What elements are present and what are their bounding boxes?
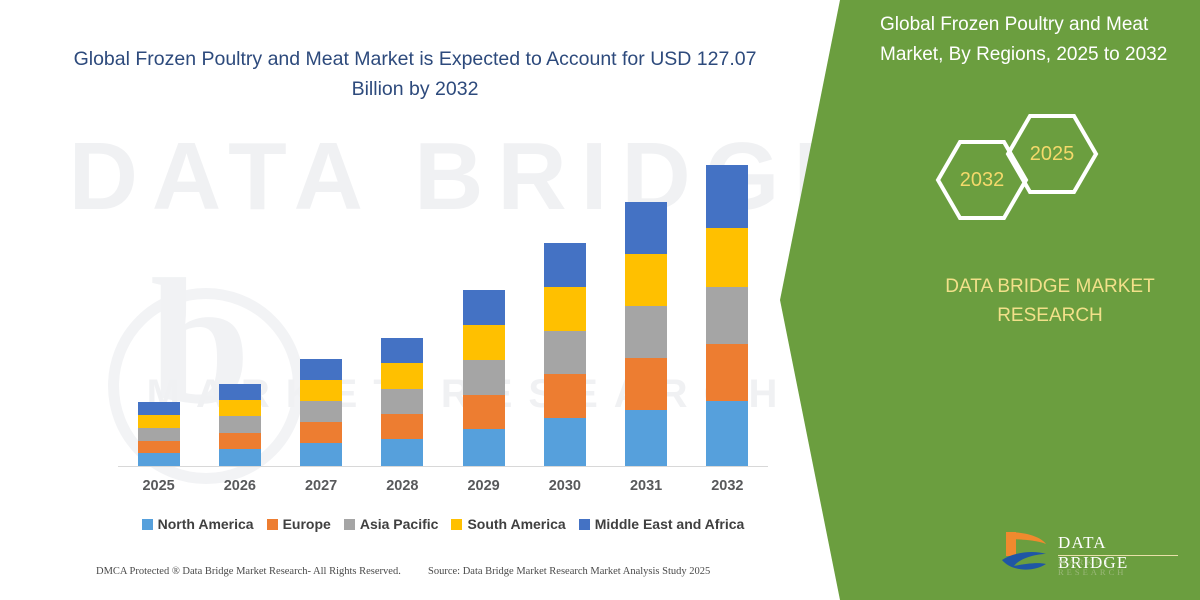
bar-segment (381, 439, 423, 466)
bar-segment (544, 287, 586, 331)
bar-segment (300, 422, 342, 443)
legend-label: Middle East and Africa (595, 516, 745, 532)
bar-column-2025 (118, 140, 199, 466)
bar-segment (463, 395, 505, 429)
bar-segment (706, 228, 748, 287)
bar-segment (300, 401, 342, 422)
stacked-bar (463, 290, 505, 466)
bar-segment (219, 433, 261, 449)
legend-swatch-icon (579, 519, 590, 530)
bar-segment (544, 418, 586, 466)
bar-column-2026 (199, 140, 280, 466)
chart-legend: North AmericaEuropeAsia PacificSouth Ame… (118, 512, 768, 536)
x-tick-2028: 2028 (362, 474, 443, 498)
bar-column-2027 (281, 140, 362, 466)
legend-swatch-icon (267, 519, 278, 530)
bar-segment (138, 415, 180, 428)
stacked-bar (625, 202, 667, 466)
bar-segment (625, 410, 667, 466)
bar-segment (706, 287, 748, 344)
bar-segment (219, 449, 261, 466)
bar-segment (463, 325, 505, 360)
legend-item[interactable]: South America (451, 516, 565, 532)
stacked-bar (381, 338, 423, 466)
bar-column-2030 (524, 140, 605, 466)
panel-title: Global Frozen Poultry and Meat Market, B… (880, 10, 1190, 70)
bridge-b-icon (1000, 530, 1052, 574)
bar-segment (381, 363, 423, 389)
legend-label: South America (467, 516, 565, 532)
bar-column-2032 (687, 140, 768, 466)
bar-segment (381, 389, 423, 414)
legend-label: Europe (283, 516, 331, 532)
brand-name-text: DATA BRIDGE MARKET RESEARCH (900, 272, 1200, 330)
bar-segment (706, 344, 748, 401)
x-tick-2029: 2029 (443, 474, 524, 498)
bar-segment (381, 414, 423, 439)
legend-swatch-icon (142, 519, 153, 530)
bar-column-2031 (606, 140, 687, 466)
hexagon-label-2025: 2025 (1004, 112, 1100, 196)
x-tick-2025: 2025 (118, 474, 199, 498)
legend-item[interactable]: Middle East and Africa (579, 516, 745, 532)
legend-item[interactable]: North America (142, 516, 254, 532)
x-tick-2032: 2032 (687, 474, 768, 498)
legend-item[interactable]: Asia Pacific (344, 516, 439, 532)
bar-column-2028 (362, 140, 443, 466)
bar-segment (381, 338, 423, 363)
logo-tagline: MARKET RESEARCH (1058, 557, 1180, 577)
footer-dmca-notice: DMCA Protected ® Data Bridge Market Rese… (96, 566, 401, 577)
stacked-bar (219, 384, 261, 466)
bar-segment (625, 358, 667, 410)
bar-segment (300, 443, 342, 466)
stacked-bar (138, 402, 180, 466)
stacked-bar (300, 359, 342, 466)
legend-label: North America (158, 516, 254, 532)
bar-segment (138, 441, 180, 453)
bar-segment (544, 243, 586, 287)
logo-mark-icon (1000, 530, 1052, 574)
bar-segment (463, 429, 505, 466)
bar-segment (138, 402, 180, 415)
bar-segment (138, 428, 180, 441)
legend-item[interactable]: Europe (267, 516, 331, 532)
x-axis-line (118, 466, 768, 467)
legend-swatch-icon (451, 519, 462, 530)
bar-segment (463, 360, 505, 395)
stacked-bar (706, 165, 748, 466)
bar-segment (138, 453, 180, 466)
hexagon-badge-2025: 2025 (1004, 112, 1100, 196)
x-tick-2026: 2026 (199, 474, 280, 498)
x-tick-2031: 2031 (606, 474, 687, 498)
data-bridge-logo: DATA BRIDGE MARKET RESEARCH (1000, 528, 1180, 576)
x-tick-2027: 2027 (281, 474, 362, 498)
x-axis-tick-labels: 20252026202720282029203020312032 (118, 474, 768, 498)
logo-divider (1058, 555, 1178, 556)
bar-segment (300, 380, 342, 401)
footer-source-note: Source: Data Bridge Market Research Mark… (428, 566, 710, 577)
bar-chart-plot (118, 140, 768, 466)
bar-segment (300, 359, 342, 380)
bar-segment (625, 202, 667, 254)
x-tick-2030: 2030 (524, 474, 605, 498)
legend-swatch-icon (344, 519, 355, 530)
bar-segment (706, 401, 748, 466)
legend-label: Asia Pacific (360, 516, 439, 532)
bar-segment (544, 331, 586, 374)
bar-segment (219, 400, 261, 416)
chart-title: Global Frozen Poultry and Meat Market is… (70, 44, 760, 104)
bar-segment (625, 306, 667, 358)
bar-segment (544, 374, 586, 418)
hexagon-badges: 2032 2025 (930, 112, 1110, 222)
infographic-canvas: b DATA BRIDGE MARKET RESEARCH Global Fro… (0, 0, 1200, 600)
bar-segment (219, 384, 261, 400)
bar-segment (625, 254, 667, 306)
stacked-bar (544, 243, 586, 466)
bar-column-2029 (443, 140, 524, 466)
bar-segment (219, 416, 261, 433)
bar-segment (706, 165, 748, 228)
bar-segment (463, 290, 505, 325)
